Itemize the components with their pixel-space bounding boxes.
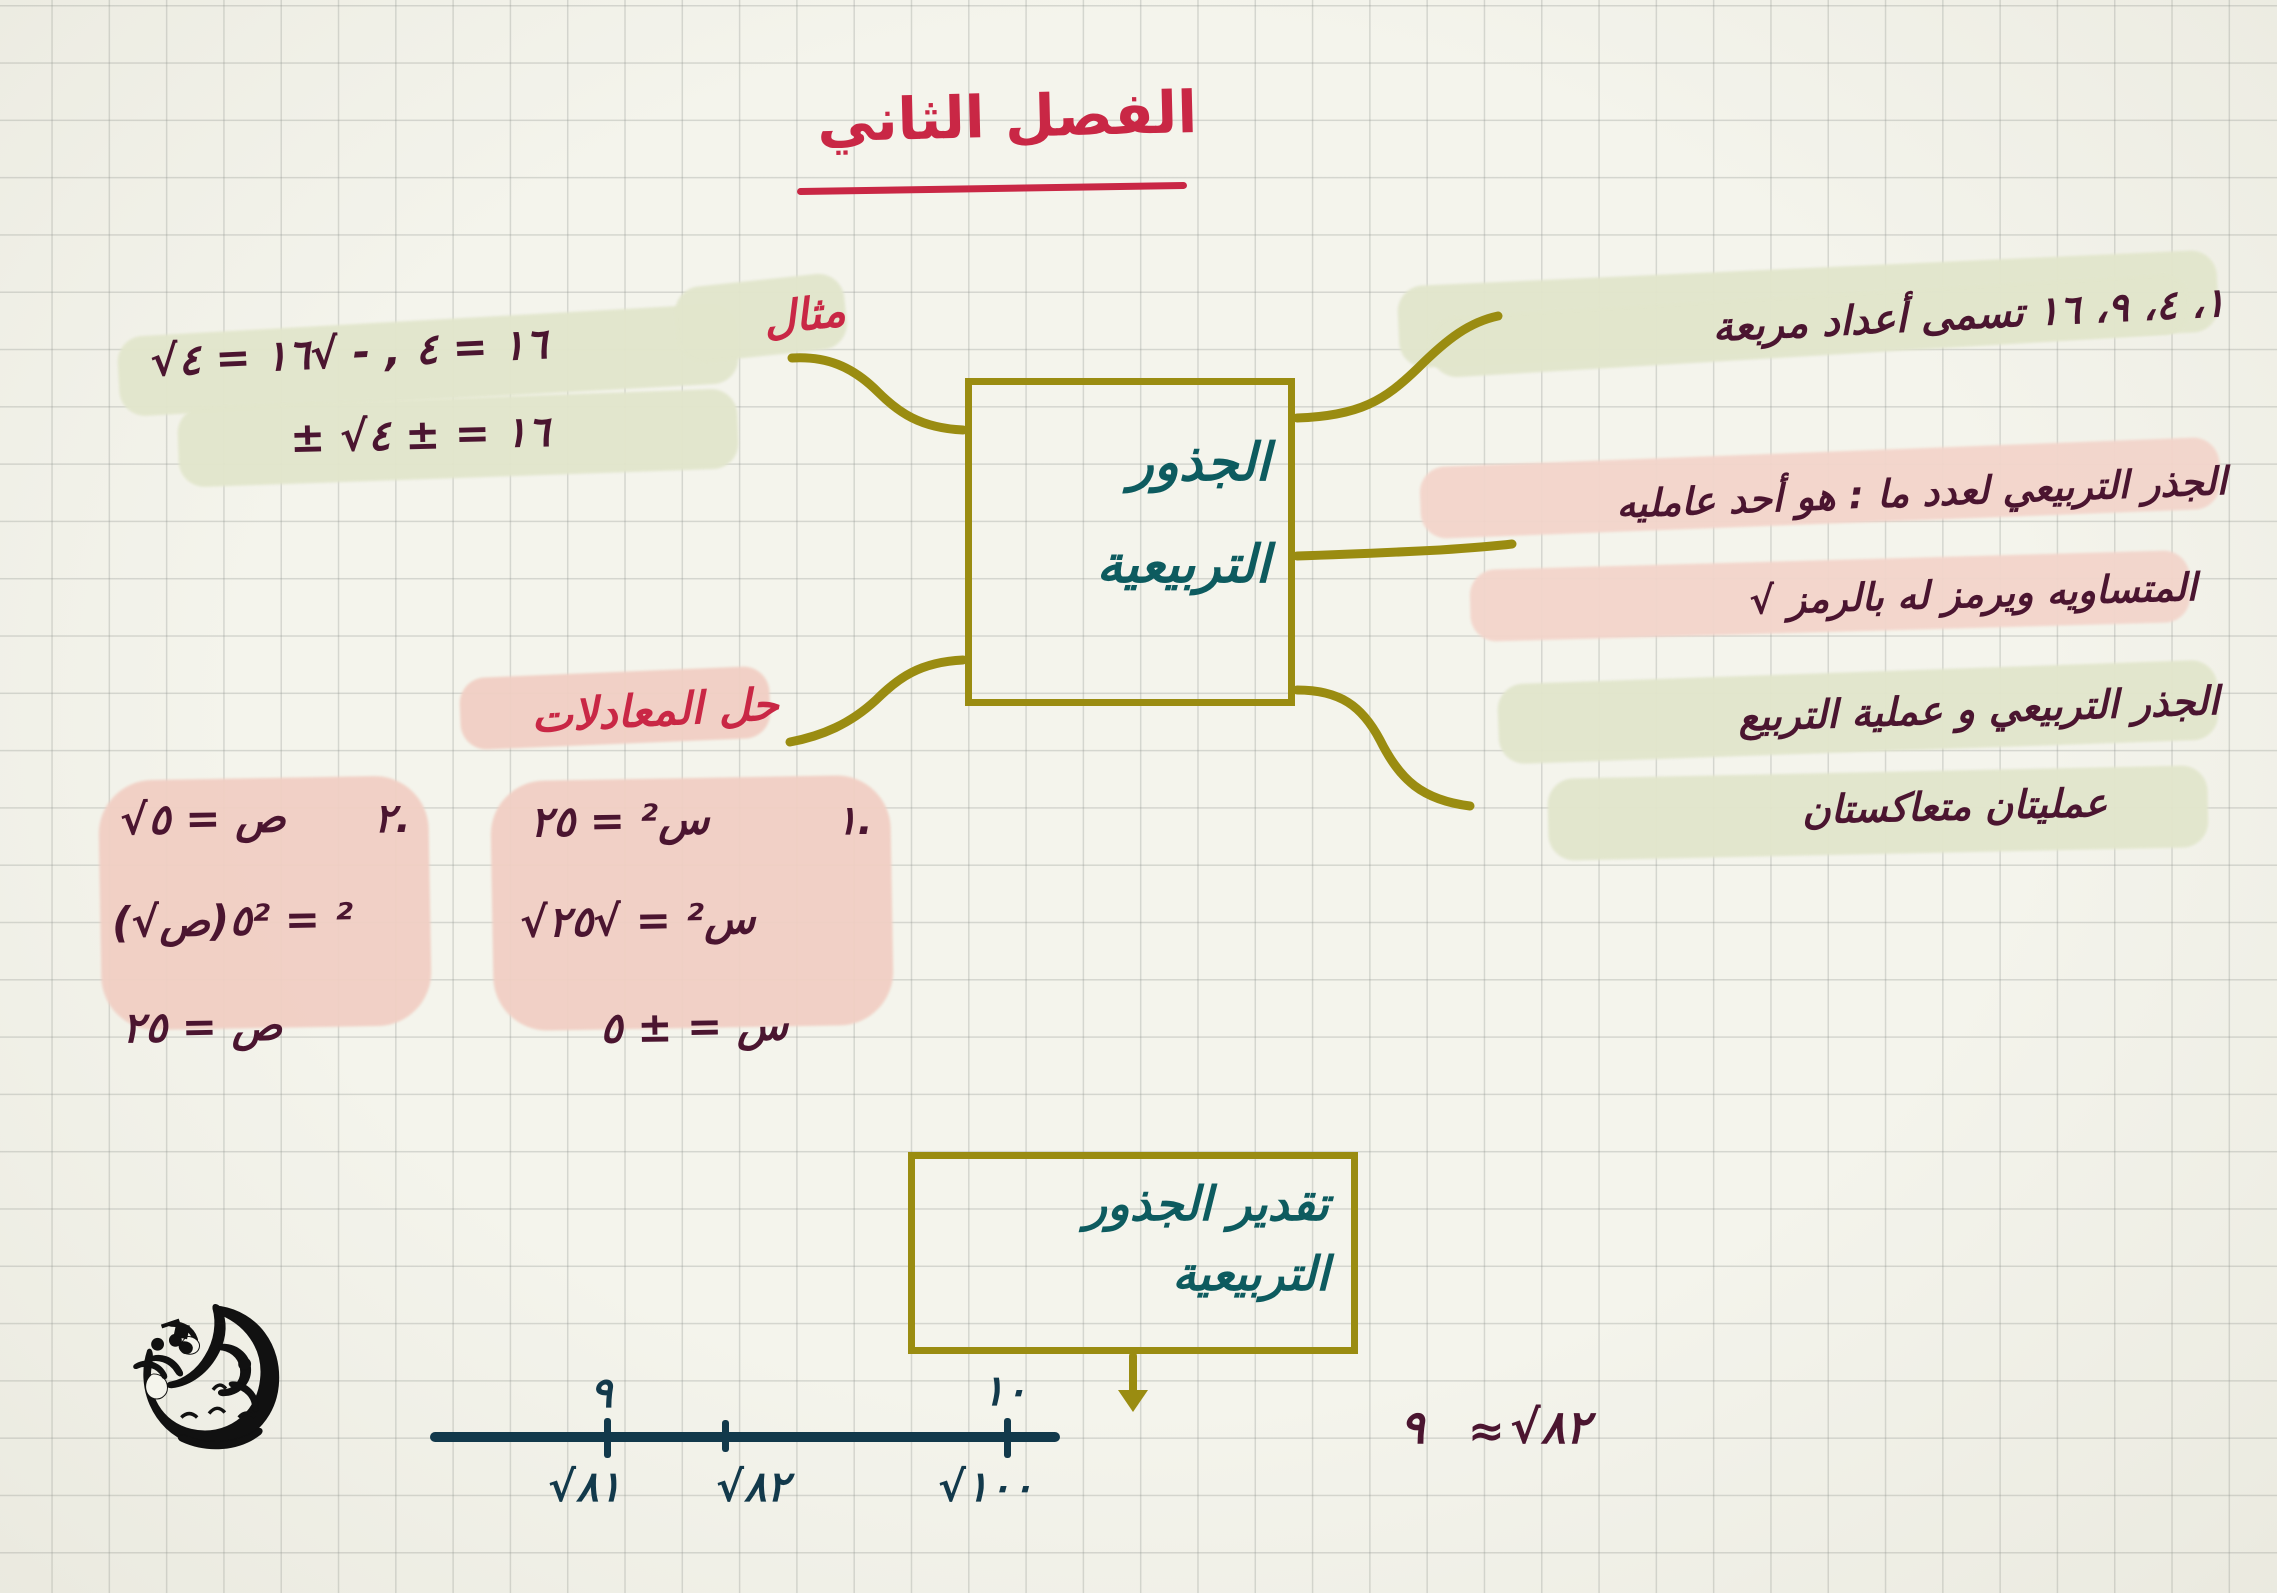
connector-right-2 — [1297, 544, 1512, 556]
number-line-tick-2 — [722, 1420, 729, 1452]
center-node-line1: الجذور — [1129, 433, 1270, 493]
connector-left-1 — [792, 358, 963, 430]
number-line-tick-3 — [1004, 1418, 1011, 1458]
equation-group1-row2: √س² = √٢٥ — [520, 894, 756, 947]
connector-left-2 — [790, 660, 963, 742]
equation-group1-number: ١. — [836, 798, 873, 844]
number-line-label-above-1: ٩ — [590, 1368, 613, 1417]
label-example: مثال — [761, 288, 848, 344]
number-line-tick-1 — [604, 1418, 611, 1458]
equation-group1-row1: س² = ٢٥ — [530, 794, 710, 846]
equation-group1-row3: س = ± ٥ — [600, 1000, 789, 1052]
equation-group2-row3: ص = ٢٥ — [122, 1001, 283, 1053]
connector-right-3 — [1297, 690, 1470, 806]
annotation-approx-symbol: ≈ — [1468, 1406, 1505, 1457]
bottom-node-line2: التربيعية — [1172, 1247, 1329, 1302]
number-line-label-below-3: √١٠٠ — [938, 1462, 1034, 1511]
annotation-radical: √٨٢ — [1510, 1400, 1590, 1454]
annotation-value: ٩ — [1400, 1400, 1425, 1454]
connector-right-1 — [1297, 316, 1498, 418]
number-line — [430, 1432, 1060, 1442]
branch-inverse-line2: عمليتان متعاكستان — [1801, 784, 2107, 832]
page-title: الفصل الثاني — [816, 82, 1197, 152]
equation-group2-row2: (√ص)² = ٥² — [112, 894, 354, 947]
bottom-node-line1: تقدير الجذور — [1084, 1177, 1329, 1232]
number-line-label-below-2: √٨٢ — [716, 1462, 789, 1511]
calligraphy-stamp-logo — [118, 1278, 306, 1458]
center-node-line2: التربيعية — [1097, 535, 1271, 595]
bottom-node-estimating-square-roots[interactable]: تقدير الجذور التربيعية — [908, 1152, 1358, 1354]
center-node-square-roots[interactable]: الجذور التربيعية — [965, 378, 1295, 706]
equation-group2-row1: √ص = ٥ — [120, 793, 287, 845]
number-line-label-above-3: ١٠ — [982, 1366, 1027, 1415]
equation-group2-number: ٢. — [374, 796, 411, 842]
number-line-label-below-1: √٨١ — [548, 1462, 621, 1511]
down-arrow-icon — [1118, 1356, 1148, 1412]
example-row-2: ± √١٦ = ± ٤ — [289, 407, 550, 462]
